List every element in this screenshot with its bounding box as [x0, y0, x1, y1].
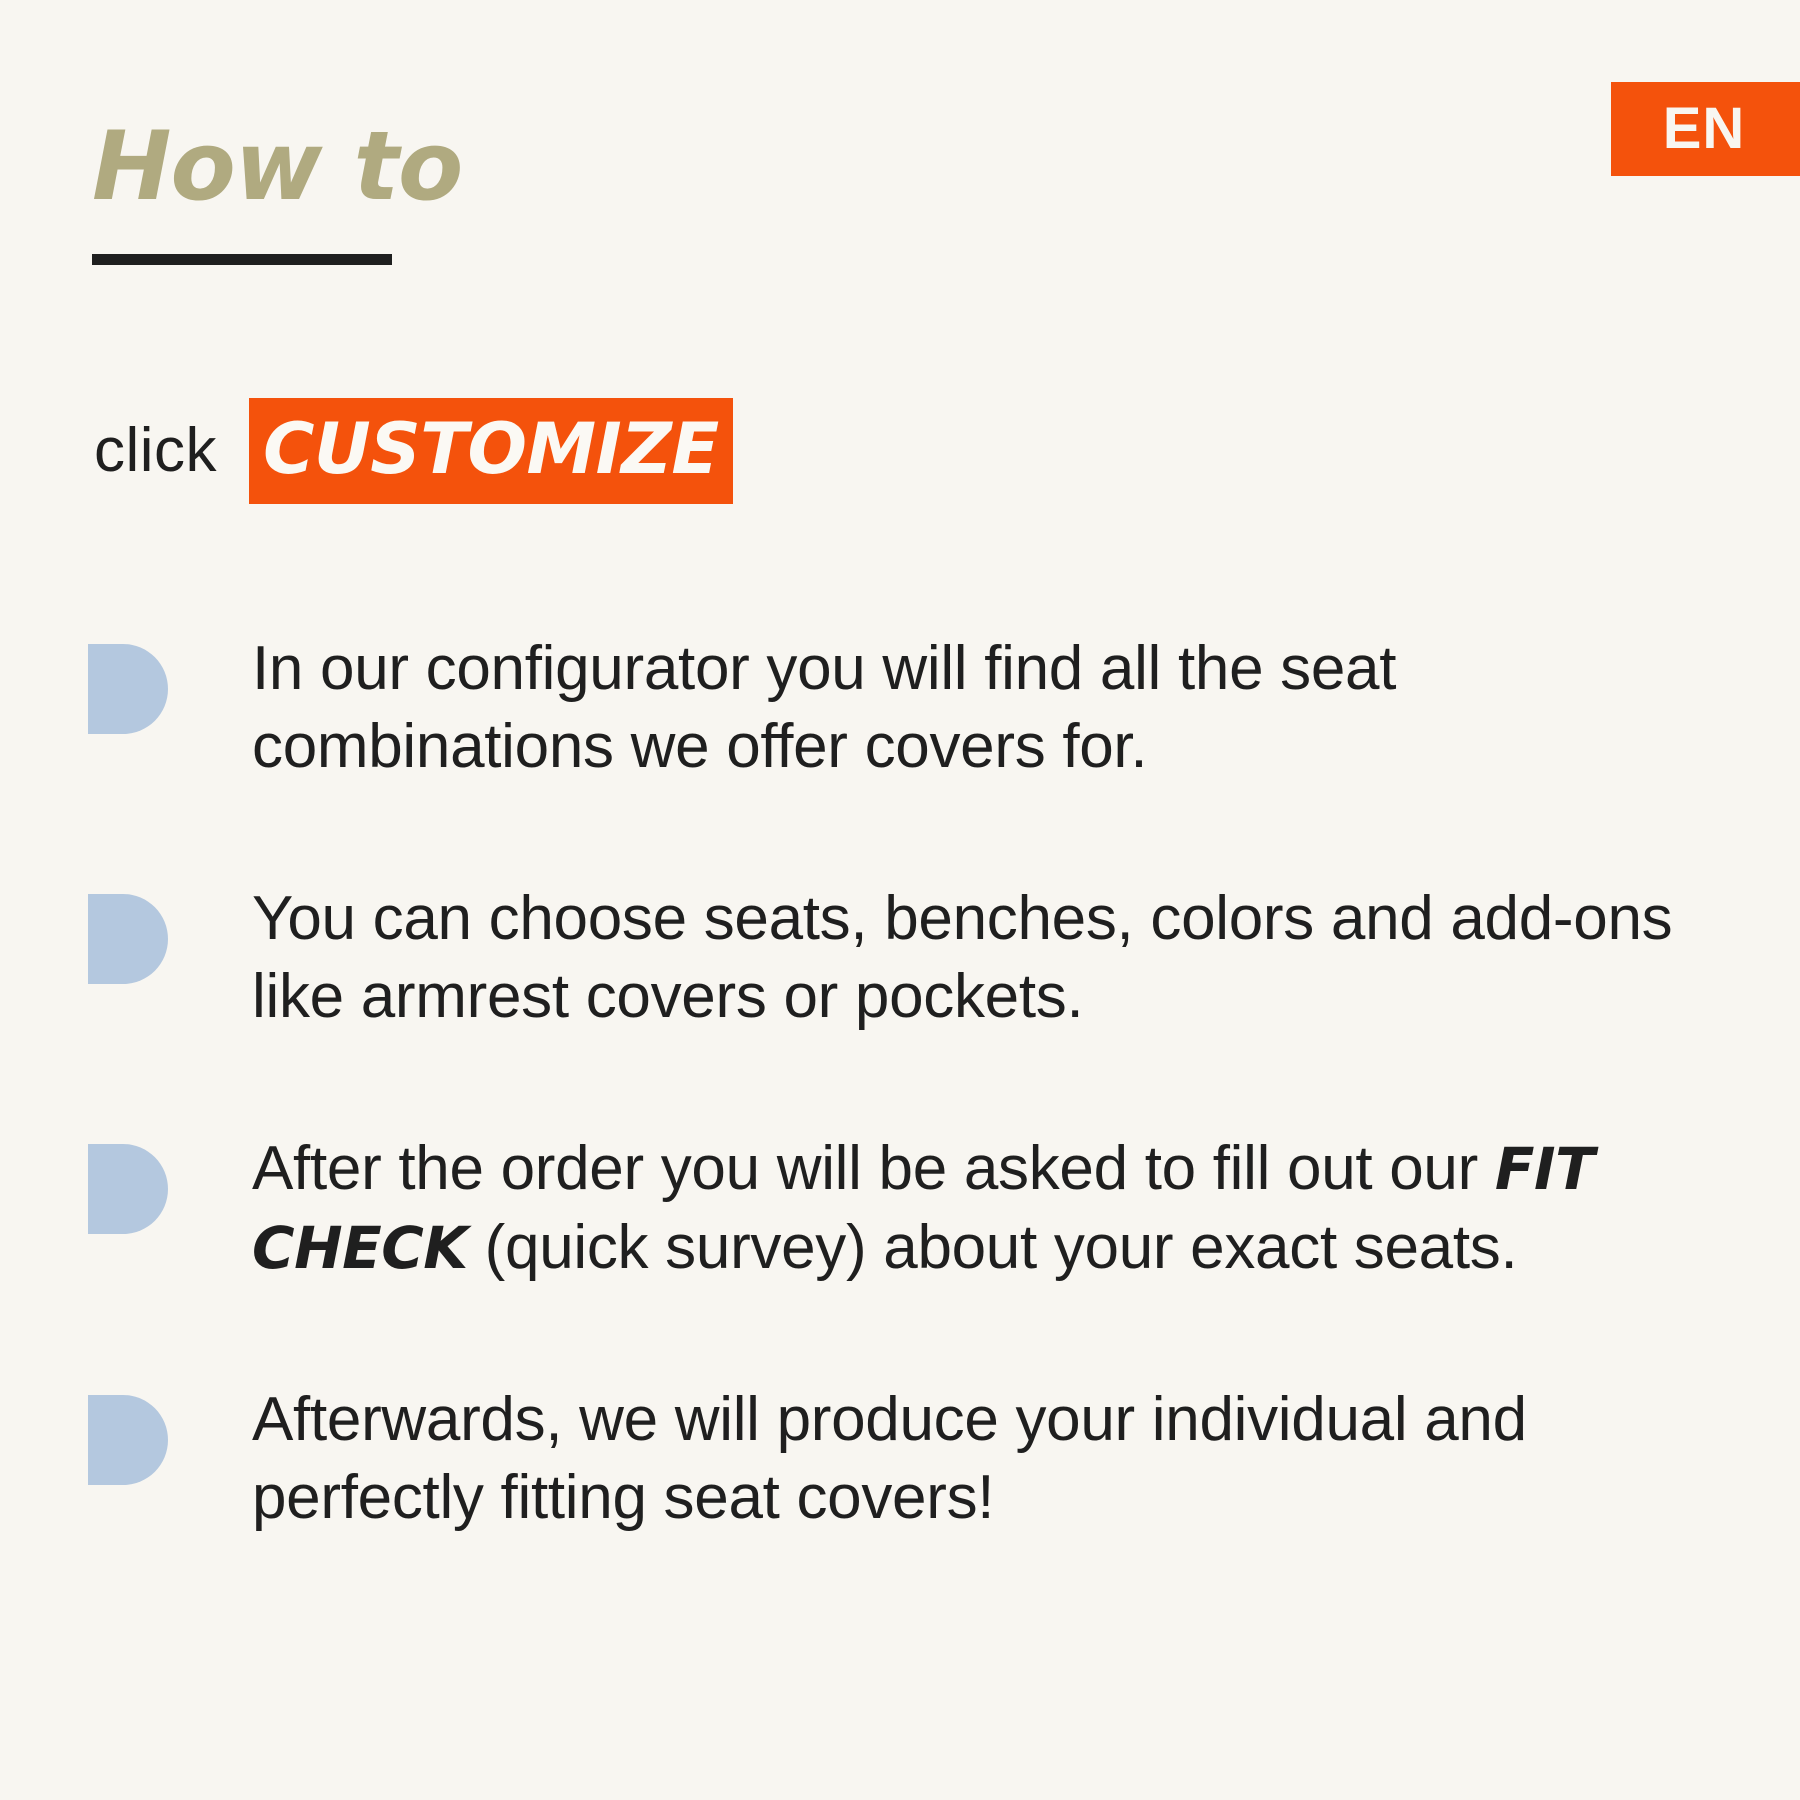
- list-item: After the order you will be asked to fil…: [88, 1130, 1748, 1286]
- title-underline-rule: [92, 254, 392, 265]
- list-item: Afterwards, we will produce your individ…: [88, 1381, 1748, 1537]
- list-item-text-lead: After the order you will be asked to fil…: [252, 1134, 1495, 1203]
- page-header: How to: [92, 118, 462, 265]
- language-badge-label: EN: [1663, 100, 1746, 158]
- list-item-text: You can choose seats, benches, colors an…: [252, 880, 1748, 1036]
- list-item-text-lead: You can choose seats, benches, colors an…: [252, 884, 1672, 1031]
- list-item-text-tail: (quick survey) about your exact seats.: [468, 1213, 1518, 1282]
- steps-list: In our configurator you will find all th…: [88, 630, 1748, 1537]
- list-item-text-lead: Afterwards, we will produce your individ…: [252, 1385, 1527, 1532]
- d-shape-bullet-icon: [88, 644, 168, 734]
- customize-button-highlight[interactable]: CUSTOMIZE: [249, 398, 733, 504]
- cta-instruction: click CUSTOMIZE: [94, 396, 733, 506]
- page-title: How to: [92, 118, 462, 218]
- d-shape-bullet-icon: [88, 1144, 168, 1234]
- language-badge[interactable]: EN: [1611, 82, 1800, 176]
- list-item-text-lead: In our configurator you will find all th…: [252, 634, 1396, 781]
- d-shape-bullet-icon: [88, 894, 168, 984]
- list-item-text: After the order you will be asked to fil…: [252, 1130, 1748, 1286]
- list-item: You can choose seats, benches, colors an…: [88, 880, 1748, 1036]
- cta-prefix-label: click: [94, 420, 217, 482]
- list-item-text: In our configurator you will find all th…: [252, 630, 1748, 786]
- list-item: In our configurator you will find all th…: [88, 630, 1748, 786]
- list-item-text: Afterwards, we will produce your individ…: [252, 1381, 1748, 1537]
- d-shape-bullet-icon: [88, 1395, 168, 1485]
